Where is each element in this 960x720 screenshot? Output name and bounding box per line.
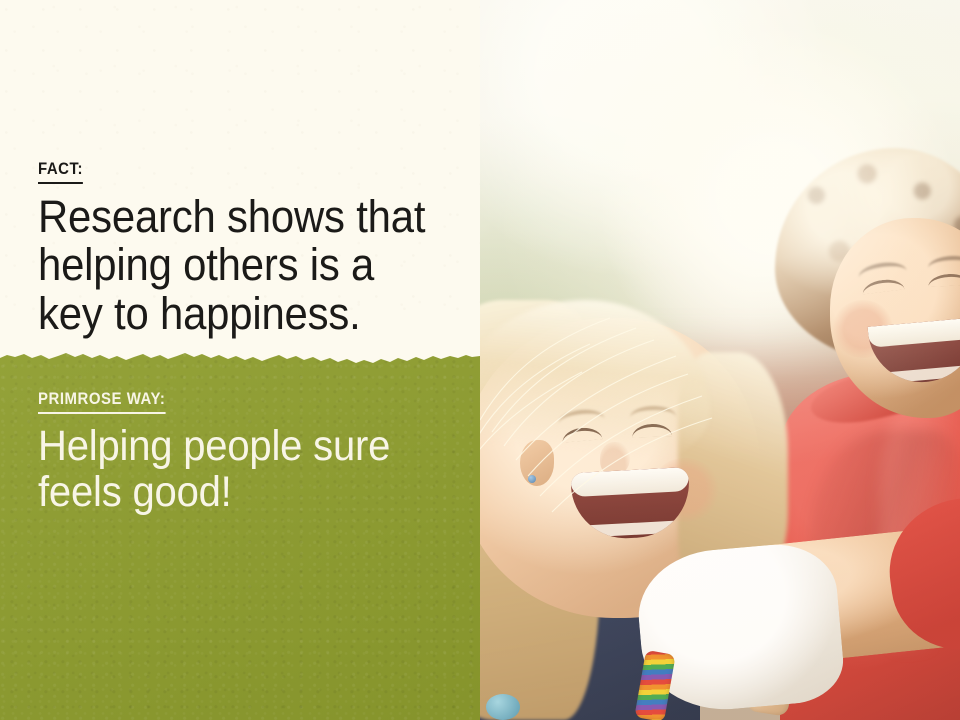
left-text-panel: FACT: Research shows that helping others… bbox=[0, 0, 480, 720]
child-a-upper-teeth bbox=[570, 467, 689, 497]
fact-kicker-label: FACT: bbox=[38, 160, 83, 184]
earring bbox=[528, 475, 536, 483]
wrist-bead bbox=[486, 694, 520, 720]
fact-block: FACT: Research shows that helping others… bbox=[38, 160, 462, 338]
photo-children-hugging: PRIMROSE SCHOOLS R The Leader in E bbox=[480, 0, 960, 720]
advertisement-canvas: FACT: Research shows that helping others… bbox=[0, 0, 960, 720]
primrose-way-block: PRIMROSE WAY: Helping people sure feels … bbox=[38, 390, 462, 516]
fact-headline: Research shows that helping others is a … bbox=[38, 193, 432, 339]
primrose-way-kicker-label: PRIMROSE WAY: bbox=[38, 390, 165, 414]
child-b-smiling-mouth bbox=[868, 317, 960, 386]
primrose-way-headline: Helping people sure feels good! bbox=[38, 423, 432, 516]
child-a-smiling-mouth bbox=[570, 467, 691, 541]
child-a-ear bbox=[520, 440, 554, 486]
